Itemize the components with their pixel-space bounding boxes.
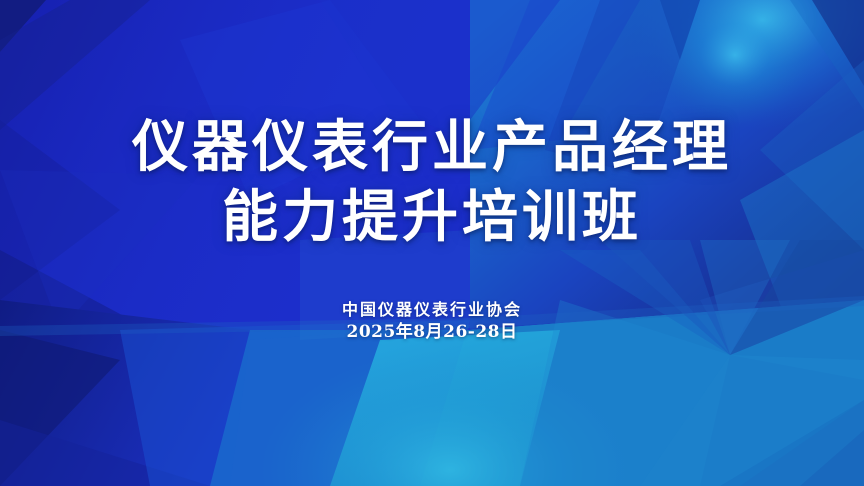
subtitle-group: 中国仪器仪表行业协会 2025年8月26-28日	[342, 298, 522, 344]
event-date: 2025年8月26-28日	[342, 321, 522, 344]
title-line-1: 仪器仪表行业产品经理	[132, 112, 732, 182]
organization-name: 中国仪器仪表行业协会	[342, 298, 522, 321]
page-title: 仪器仪表行业产品经理 能力提升培训班	[132, 112, 732, 252]
title-slide: 仪器仪表行业产品经理 能力提升培训班 中国仪器仪表行业协会 2025年8月26-…	[0, 0, 864, 486]
title-line-2: 能力提升培训班	[132, 182, 732, 252]
